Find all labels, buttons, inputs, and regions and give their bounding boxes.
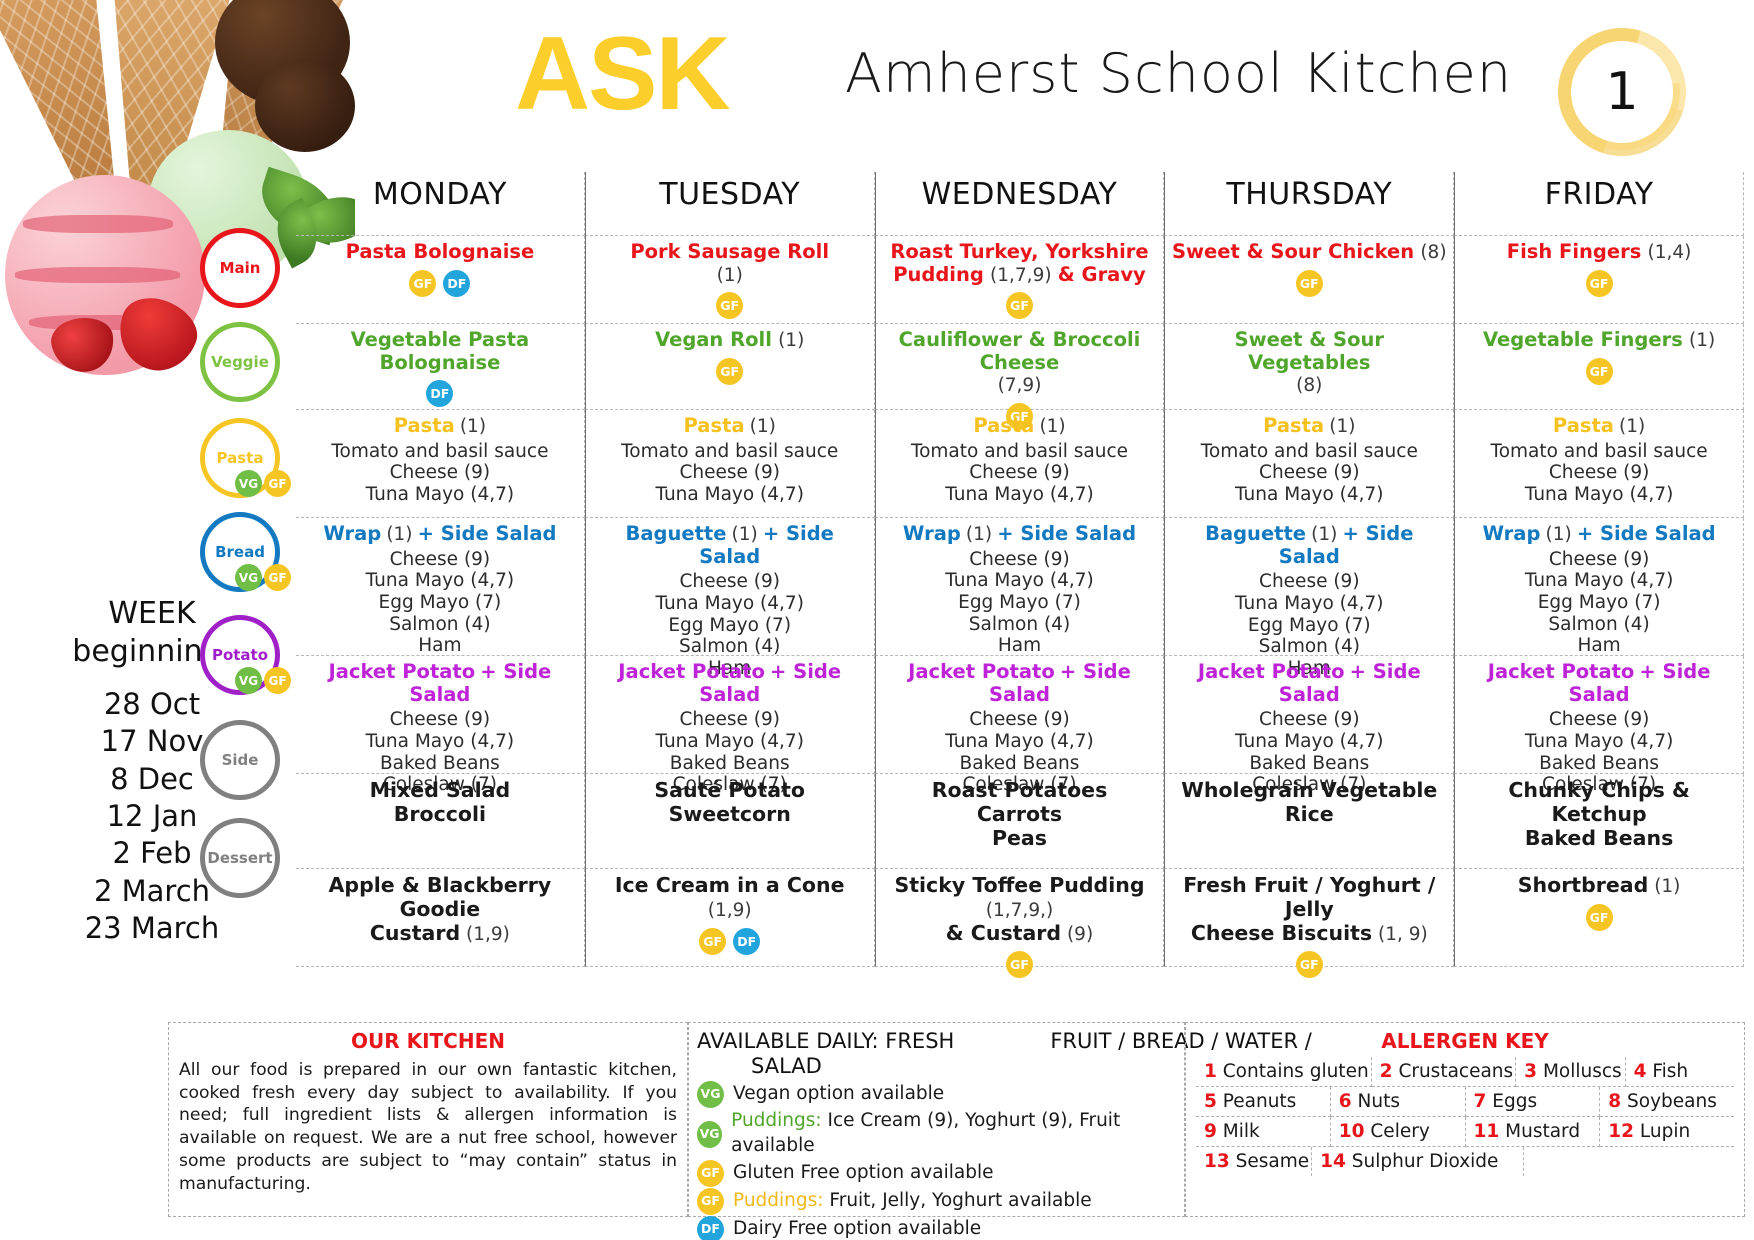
category-label: Potato bbox=[212, 646, 268, 664]
week-number-badge: 1 bbox=[1552, 22, 1692, 162]
dish-option: Cheese (9) bbox=[592, 571, 868, 593]
menu-cell-dessert: Apple & Blackberry GoodieCustard (1,9) bbox=[296, 869, 585, 967]
side-item: Baked Beans bbox=[1461, 827, 1737, 851]
bread-row: Wrap (1) + Side Salad Cheese (9)Tuna May… bbox=[296, 518, 1744, 656]
week-date: 23 March bbox=[12, 910, 292, 947]
dish-option: Tuna Mayo (4,7) bbox=[592, 484, 868, 506]
category-badges: VGGF bbox=[235, 470, 291, 497]
menu-cell-side: Chunky Chips & KetchupBaked Beans bbox=[1454, 774, 1744, 869]
menu-cell-side: Wholegrain Vegetable Rice bbox=[1164, 774, 1454, 869]
dish-option: Tuna Mayo (4,7) bbox=[1461, 484, 1737, 506]
menu-cell-side: Sauté PotatoSweetcorn bbox=[585, 774, 875, 869]
dish-title: Pasta bbox=[394, 414, 455, 437]
badge-gf: GF bbox=[1586, 904, 1613, 931]
allergen-badges: GF bbox=[1171, 951, 1447, 978]
main-row: Pasta BolognaiseGFDFPork Sausage Roll(1)… bbox=[296, 236, 1744, 324]
menu-cell-veggie: Sweet & Sour Vegetables(8) bbox=[1164, 324, 1454, 410]
allergen-cell: 12 Lupin bbox=[1600, 1117, 1734, 1147]
menu-cell-bread: Wrap (1) + Side Salad Cheese (9)Tuna May… bbox=[1454, 518, 1744, 656]
allergen-badges: GF bbox=[1461, 358, 1737, 385]
dessert-line-1: Sticky Toffee Pudding (1,7,9,) bbox=[882, 874, 1158, 922]
dish-title: Baguette bbox=[1205, 522, 1306, 545]
dish-title: Wrap bbox=[903, 522, 961, 545]
badge-vg: VG bbox=[235, 470, 262, 497]
veggie-row: Vegetable Pasta BolognaiseDFVegan Roll (… bbox=[296, 324, 1744, 410]
dish: Vegetable Fingers (1) bbox=[1461, 329, 1737, 352]
dish-option: Tuna Mayo (4,7) bbox=[1461, 731, 1737, 753]
dish-allergens: (1,4) bbox=[1648, 242, 1692, 263]
allergen-name: Lupin bbox=[1640, 1121, 1690, 1142]
dish-allergens: (1) bbox=[1039, 416, 1065, 437]
menu-grid: MONDAY TUESDAY WEDNESDAY THURSDAY FRIDAY… bbox=[296, 172, 1744, 1010]
dish-options: Tomato and basil sauceCheese (9)Tuna May… bbox=[1171, 441, 1447, 506]
category-label: Bread bbox=[215, 543, 265, 561]
allergen-name: Nuts bbox=[1358, 1091, 1400, 1112]
side-item: Chunky Chips & Ketchup bbox=[1461, 779, 1737, 827]
allergen-number: 13 bbox=[1204, 1151, 1230, 1172]
dish-allergens: (7,9) bbox=[998, 375, 1042, 396]
menu-cell-main: Roast Turkey, Yorkshire Pudding (1,7,9) … bbox=[875, 236, 1165, 324]
dish-title: Jacket Potato bbox=[1198, 660, 1345, 683]
dish-option: Cheese (9) bbox=[1461, 709, 1737, 731]
dish-option: Tuna Mayo (4,7) bbox=[882, 570, 1158, 592]
allergen-cell: 4 Fish bbox=[1626, 1057, 1734, 1087]
dish-option: Tuna Mayo (4,7) bbox=[592, 731, 868, 753]
menu-cell-potato: Jacket Potato + Side Salad Cheese (9)Tun… bbox=[585, 656, 875, 774]
dish-option: Tomato and basil sauce bbox=[1461, 441, 1737, 463]
our-kitchen-body: All our food is prepared in our own fant… bbox=[179, 1059, 677, 1195]
dish-option: Tuna Mayo (4,7) bbox=[1171, 731, 1447, 753]
side-item: Wholegrain Vegetable Rice bbox=[1171, 779, 1447, 827]
category-pasta: Pasta VGGF bbox=[200, 418, 280, 498]
side-item: Broccoli bbox=[302, 803, 578, 827]
dish-option: Salmon (4) bbox=[592, 636, 868, 658]
available-daily-heading: AVAILABLE DAILY: FRESHFRUIT / BREAD / WA… bbox=[697, 1029, 1176, 1079]
daily-item-text: Gluten Free option available bbox=[733, 1161, 993, 1186]
allergen-cell-empty bbox=[1524, 1147, 1734, 1176]
dish-title: Cauliflower & Broccoli Cheese bbox=[899, 328, 1141, 374]
daily-item-prefix: Puddings: bbox=[731, 1110, 822, 1131]
badge-df: DF bbox=[443, 270, 470, 297]
dish: Pasta (1) bbox=[1171, 415, 1447, 438]
dish-title: Jacket Potato bbox=[618, 660, 765, 683]
allergen-cell: 3 Molluscs bbox=[1516, 1057, 1625, 1087]
allergen-number: 5 bbox=[1204, 1091, 1217, 1112]
allergen-name: Contains gluten bbox=[1223, 1061, 1369, 1082]
allergen-cell: 11 Mustard bbox=[1466, 1117, 1601, 1147]
category-bread: Bread VGGF bbox=[200, 512, 280, 592]
badge-df: DF bbox=[426, 380, 453, 407]
category-label: Side bbox=[222, 751, 259, 769]
allergen-name: Sulphur Dioxide bbox=[1352, 1151, 1499, 1172]
menu-cell-main: Pork Sausage Roll(1)GF bbox=[585, 236, 875, 324]
daily-item: VG Vegan option available bbox=[697, 1081, 1176, 1108]
menu-cell-side: Mixed SaladBroccoli bbox=[296, 774, 585, 869]
allergen-number: 9 bbox=[1204, 1121, 1217, 1142]
badge-vg: VG bbox=[235, 564, 262, 591]
dish-allergens: (1) bbox=[1311, 524, 1337, 545]
menu-cell-bread: Baguette (1) + Side Salad Cheese (9)Tuna… bbox=[585, 518, 875, 656]
menu-cell-main: Pasta BolognaiseGFDF bbox=[296, 236, 585, 324]
dish-option: Tuna Mayo (4,7) bbox=[302, 484, 578, 506]
dish-option: Tuna Mayo (4,7) bbox=[882, 731, 1158, 753]
dish-option: Cheese (9) bbox=[302, 462, 578, 484]
allergen-row: 1 Contains gluten2 Crustaceans3 Molluscs… bbox=[1196, 1057, 1734, 1087]
allergen-number: 10 bbox=[1339, 1121, 1365, 1142]
badge-gf: GF bbox=[716, 358, 743, 385]
dish-title: Pasta bbox=[973, 414, 1034, 437]
dish-title: Wrap bbox=[1483, 522, 1541, 545]
day-label: TUESDAY bbox=[592, 177, 868, 212]
badge-gf: GF bbox=[699, 928, 726, 955]
allergen-badges: GFDF bbox=[592, 928, 868, 955]
category-potato: Potato VGGF bbox=[200, 615, 280, 695]
daily-item-text: Dairy Free option available bbox=[733, 1217, 981, 1240]
menu-cell-dessert: Shortbread (1)GF bbox=[1454, 869, 1744, 967]
dish-option: Cheese (9) bbox=[1461, 549, 1737, 571]
dish-option: Tomato and basil sauce bbox=[592, 441, 868, 463]
allergen-badges: DF bbox=[302, 380, 578, 407]
allergen-name: Peanuts bbox=[1223, 1091, 1297, 1112]
category-veggie: Veggie bbox=[200, 322, 280, 402]
daily-item-text: Puddings: Ice Cream (9), Yoghurt (9), Fr… bbox=[731, 1109, 1176, 1159]
side-item: Peas bbox=[882, 827, 1158, 851]
dessert-line-1: Apple & Blackberry Goodie bbox=[302, 874, 578, 922]
menu-cell-dessert: Sticky Toffee Pudding (1,7,9,)& Custard … bbox=[875, 869, 1165, 967]
dish-option: Cheese (9) bbox=[302, 709, 578, 731]
menu-cell-dessert: Fresh Fruit / Yoghurt / JellyCheese Bisc… bbox=[1164, 869, 1454, 967]
badge-gf: GF bbox=[1586, 270, 1613, 297]
menu-page: ASK Amherst School Kitchen 1 WEEK beginn… bbox=[0, 0, 1754, 1240]
menu-cell-pasta: Pasta (1) Tomato and basil sauceCheese (… bbox=[296, 410, 585, 518]
allergen-name: Crustaceans bbox=[1398, 1061, 1513, 1082]
week-number: 1 bbox=[1552, 22, 1692, 162]
dish-option: Ham bbox=[1461, 635, 1737, 657]
dish-allergens: (8) bbox=[1420, 242, 1446, 263]
side-item: Sauté Potato bbox=[592, 779, 868, 803]
badge-df: DF bbox=[697, 1216, 724, 1240]
dish-title: Pork Sausage Roll bbox=[630, 240, 829, 263]
allergen-cell: 2 Crustaceans bbox=[1372, 1057, 1517, 1087]
dish-title: Pasta bbox=[684, 414, 745, 437]
dish-option: Egg Mayo (7) bbox=[592, 615, 868, 637]
day-header-wednesday: WEDNESDAY bbox=[875, 172, 1165, 236]
dish: Roast Turkey, Yorkshire Pudding (1,7,9) … bbox=[882, 241, 1158, 286]
dish: Wrap (1) + Side Salad bbox=[1461, 523, 1737, 546]
dish-title: Pasta Bolognaise bbox=[346, 240, 535, 263]
dish-options: Cheese (9)Tuna Mayo (4,7)Egg Mayo (7)Sal… bbox=[882, 549, 1158, 657]
dish-option: Tuna Mayo (4,7) bbox=[1171, 593, 1447, 615]
dish-title: Wrap bbox=[323, 522, 381, 545]
dish-plus: + Side Salad bbox=[1577, 522, 1716, 545]
side-item: Carrots bbox=[882, 803, 1158, 827]
category-label: Pasta bbox=[217, 449, 264, 467]
dish-option: Salmon (4) bbox=[882, 614, 1158, 636]
badge-gf: GF bbox=[697, 1160, 724, 1187]
menu-cell-veggie: Vegetable Fingers (1)GF bbox=[1454, 324, 1744, 410]
dessert-allergens-1: (1) bbox=[1648, 876, 1680, 897]
dish-options: Tomato and basil sauceCheese (9)Tuna May… bbox=[1461, 441, 1737, 506]
available-daily-heading-1: AVAILABLE DAILY: FRESH bbox=[697, 1029, 954, 1053]
dish-option: Baked Beans bbox=[592, 753, 868, 775]
dish-options: Tomato and basil sauceCheese (9)Tuna May… bbox=[302, 441, 578, 506]
dish-option: Ham bbox=[302, 635, 578, 657]
allergen-badges: GF bbox=[592, 292, 868, 319]
badge-df: DF bbox=[733, 928, 760, 955]
allergen-badges: GF bbox=[1461, 904, 1737, 931]
dish-option: Cheese (9) bbox=[1171, 462, 1447, 484]
menu-cell-veggie: Vegan Roll (1)GF bbox=[585, 324, 875, 410]
allergen-key-panel: ALLERGEN KEY 1 Contains gluten2 Crustace… bbox=[1185, 1022, 1745, 1217]
side-row: Mixed SaladBroccoli Sauté PotatoSweetcor… bbox=[296, 774, 1744, 869]
dish-allergens: (1) bbox=[386, 524, 412, 545]
dish-option: Egg Mayo (7) bbox=[302, 592, 578, 614]
dish-option: Cheese (9) bbox=[1171, 571, 1447, 593]
dish-option: Tuna Mayo (4,7) bbox=[302, 570, 578, 592]
badge-gf: GF bbox=[1296, 951, 1323, 978]
side-item: Sweetcorn bbox=[592, 803, 868, 827]
dish-option: Salmon (4) bbox=[302, 614, 578, 636]
dish: Pasta (1) bbox=[1461, 415, 1737, 438]
dessert-allergens-2: (9) bbox=[1061, 924, 1093, 945]
allergen-name: Molluscs bbox=[1543, 1061, 1622, 1082]
day-header-friday: FRIDAY bbox=[1454, 172, 1744, 236]
dish-option: Tomato and basil sauce bbox=[302, 441, 578, 463]
allergen-badges: GF bbox=[1461, 270, 1737, 297]
dish: Pork Sausage Roll(1) bbox=[592, 241, 868, 286]
dish: Jacket Potato + Side Salad bbox=[302, 661, 578, 706]
available-daily-panel: AVAILABLE DAILY: FRESHFRUIT / BREAD / WA… bbox=[688, 1022, 1185, 1217]
allergen-cell: 8 Soybeans bbox=[1600, 1087, 1734, 1117]
allergen-number: 1 bbox=[1204, 1061, 1217, 1082]
category-label: Veggie bbox=[211, 353, 269, 371]
menu-cell-main: Sweet & Sour Chicken (8)GF bbox=[1164, 236, 1454, 324]
available-daily-list: VG Vegan option available VG Puddings: I… bbox=[697, 1081, 1176, 1240]
dessert-line-1: Shortbread (1) bbox=[1461, 874, 1737, 898]
menu-cell-pasta: Pasta (1) Tomato and basil sauceCheese (… bbox=[585, 410, 875, 518]
dish-allergens: (8) bbox=[1296, 375, 1322, 396]
dish-option: Tuna Mayo (4,7) bbox=[882, 484, 1158, 506]
dish-option: Egg Mayo (7) bbox=[1171, 615, 1447, 637]
dish-option: Baked Beans bbox=[1461, 753, 1737, 775]
daily-item: GF Puddings: Fruit, Jelly, Yoghurt avail… bbox=[697, 1188, 1176, 1215]
dish-allergens: (1) bbox=[1689, 330, 1715, 351]
menu-cell-bread: Baguette (1) + Side Salad Cheese (9)Tuna… bbox=[1164, 518, 1454, 656]
dish-option: Salmon (4) bbox=[1461, 614, 1737, 636]
allergen-number: 12 bbox=[1608, 1121, 1634, 1142]
daily-item: VG Puddings: Ice Cream (9), Yoghurt (9),… bbox=[697, 1109, 1176, 1159]
dish-option: Cheese (9) bbox=[882, 462, 1158, 484]
dish: Jacket Potato + Side Salad bbox=[882, 661, 1158, 706]
dish-title: Jacket Potato bbox=[1488, 660, 1635, 683]
menu-cell-potato: Jacket Potato + Side Salad Cheese (9)Tun… bbox=[1164, 656, 1454, 774]
badge-gf: GF bbox=[264, 667, 291, 694]
dish-plus: + Side Salad bbox=[997, 522, 1136, 545]
potato-row: Jacket Potato + Side Salad Cheese (9)Tun… bbox=[296, 656, 1744, 774]
allergen-row: 9 Milk10 Celery11 Mustard12 Lupin bbox=[1196, 1117, 1734, 1147]
allergen-name: Milk bbox=[1223, 1121, 1260, 1142]
page-title: Amherst School Kitchen bbox=[845, 42, 1512, 105]
dish-option: Tuna Mayo (4,7) bbox=[592, 593, 868, 615]
dish-title: Vegan Roll bbox=[655, 328, 772, 351]
dish-option: Baked Beans bbox=[1171, 753, 1447, 775]
allergen-cell: 13 Sesame bbox=[1196, 1147, 1312, 1176]
dish: Sweet & Sour Vegetables(8) bbox=[1171, 329, 1447, 397]
ask-logo: ASK bbox=[515, 22, 729, 126]
dish-title: Vegetable Fingers bbox=[1483, 328, 1683, 351]
dessert-line-2: Custard (1,9) bbox=[302, 922, 578, 946]
dessert-allergens-2: (1,9) bbox=[460, 924, 510, 945]
allergen-cell: 1 Contains gluten bbox=[1196, 1057, 1372, 1087]
dish: Pasta (1) bbox=[882, 415, 1158, 438]
dish: Vegetable Pasta Bolognaise bbox=[302, 329, 578, 374]
dessert-allergens-1: (1,7,9,) bbox=[986, 900, 1053, 921]
dish-allergens: (1) bbox=[966, 524, 992, 545]
side-item: Roast Potatoes bbox=[882, 779, 1158, 803]
dessert-row: Apple & Blackberry GoodieCustard (1,9)Ic… bbox=[296, 869, 1744, 967]
dish-option: Cheese (9) bbox=[1461, 462, 1737, 484]
allergen-name: Sesame bbox=[1236, 1151, 1310, 1172]
day-label: THURSDAY bbox=[1171, 177, 1447, 212]
allergen-number: 4 bbox=[1634, 1061, 1647, 1082]
allergen-name: Celery bbox=[1370, 1121, 1429, 1142]
dish-option: Tuna Mayo (4,7) bbox=[302, 731, 578, 753]
dish-title: Sweet & Sour Chicken bbox=[1172, 240, 1414, 263]
menu-cell-potato: Jacket Potato + Side Salad Cheese (9)Tun… bbox=[875, 656, 1165, 774]
dish-options: Tomato and basil sauceCheese (9)Tuna May… bbox=[882, 441, 1158, 506]
dish-option: Cheese (9) bbox=[592, 462, 868, 484]
menu-cell-main: Fish Fingers (1,4)GF bbox=[1454, 236, 1744, 324]
allergen-badges: GFDF bbox=[302, 270, 578, 297]
dish: Baguette (1) + Side Salad bbox=[592, 523, 868, 568]
badge-gf: GF bbox=[1006, 292, 1033, 319]
day-label: FRIDAY bbox=[1461, 177, 1737, 212]
badge-gf: GF bbox=[1586, 358, 1613, 385]
dish-title: Jacket Potato bbox=[908, 660, 1055, 683]
allergen-cell: 14 Sulphur Dioxide bbox=[1312, 1147, 1523, 1176]
badge-gf: GF bbox=[264, 564, 291, 591]
category-label: Main bbox=[220, 259, 261, 277]
chocolate-scoop-icon bbox=[255, 60, 355, 152]
dish-suffix: & Gravy bbox=[1058, 263, 1146, 286]
dish-options: Cheese (9)Tuna Mayo (4,7)Egg Mayo (7)Sal… bbox=[1461, 549, 1737, 657]
daily-item: GF Gluten Free option available bbox=[697, 1160, 1176, 1187]
dish-allergens: (1) bbox=[1329, 416, 1355, 437]
pasta-row: Pasta (1) Tomato and basil sauceCheese (… bbox=[296, 410, 1744, 518]
dish-option: Cheese (9) bbox=[882, 709, 1158, 731]
badge-vg: VG bbox=[235, 667, 262, 694]
daily-item: DF Dairy Free option available bbox=[697, 1216, 1176, 1240]
badge-gf: GF bbox=[716, 292, 743, 319]
badge-vg: VG bbox=[697, 1121, 722, 1148]
menu-cell-dessert: Ice Cream in a Cone (1,9)GFDF bbox=[585, 869, 875, 967]
dish-option: Tuna Mayo (4,7) bbox=[1171, 484, 1447, 506]
menu-cell-veggie: Cauliflower & Broccoli Cheese(7,9)GF bbox=[875, 324, 1165, 410]
day-header-row: MONDAY TUESDAY WEDNESDAY THURSDAY FRIDAY bbox=[296, 172, 1744, 236]
dessert-allergens-2: (1, 9) bbox=[1372, 924, 1428, 945]
day-header-thursday: THURSDAY bbox=[1164, 172, 1454, 236]
category-side: Side bbox=[200, 720, 280, 800]
dish-title: Pasta bbox=[1553, 414, 1614, 437]
dessert-line-1: Fresh Fruit / Yoghurt / Jelly bbox=[1171, 874, 1447, 922]
dish-title: Baguette bbox=[625, 522, 726, 545]
dish-option: Ham bbox=[882, 635, 1158, 657]
daily-item-text: Puddings: Fruit, Jelly, Yoghurt availabl… bbox=[733, 1189, 1092, 1214]
dish-allergens: (1) bbox=[750, 416, 776, 437]
allergen-name: Soybeans bbox=[1627, 1091, 1717, 1112]
category-badges: VGGF bbox=[235, 667, 291, 694]
menu-cell-side: Roast PotatoesCarrotsPeas bbox=[875, 774, 1165, 869]
menu-cell-veggie: Vegetable Pasta BolognaiseDF bbox=[296, 324, 585, 410]
menu-cell-potato: Jacket Potato + Side Salad Cheese (9)Tun… bbox=[1454, 656, 1744, 774]
category-badges: VGGF bbox=[235, 564, 291, 591]
dish-allergens: (1) bbox=[732, 524, 758, 545]
dish: Vegan Roll (1) bbox=[592, 329, 868, 352]
badge-gf: GF bbox=[1296, 270, 1323, 297]
allergen-badges: GF bbox=[1171, 270, 1447, 297]
dish-allergens: (1) bbox=[1546, 524, 1572, 545]
dish-option: Egg Mayo (7) bbox=[882, 592, 1158, 614]
allergen-cell: 9 Milk bbox=[1196, 1117, 1331, 1147]
dish-option: Cheese (9) bbox=[302, 549, 578, 571]
dish-allergens: (1) bbox=[460, 416, 486, 437]
allergen-number: 11 bbox=[1474, 1121, 1500, 1142]
dish-option: Baked Beans bbox=[302, 753, 578, 775]
available-daily-heading-3: SALAD bbox=[751, 1054, 1176, 1079]
allergen-badges: GF bbox=[882, 951, 1158, 978]
allergen-name: Fish bbox=[1652, 1061, 1688, 1082]
category-dessert: Dessert bbox=[200, 818, 280, 898]
dish: Cauliflower & Broccoli Cheese(7,9) bbox=[882, 329, 1158, 397]
day-label: WEDNESDAY bbox=[882, 177, 1158, 212]
allergen-row: 5 Peanuts6 Nuts7 Eggs8 Soybeans bbox=[1196, 1087, 1734, 1117]
menu-cell-pasta: Pasta (1) Tomato and basil sauceCheese (… bbox=[1164, 410, 1454, 518]
menu-cell-pasta: Pasta (1) Tomato and basil sauceCheese (… bbox=[1454, 410, 1744, 518]
dish: Jacket Potato + Side Salad bbox=[592, 661, 868, 706]
allergen-badges: GF bbox=[592, 358, 868, 385]
dish-option: Salmon (4) bbox=[1171, 636, 1447, 658]
dish-option: Cheese (9) bbox=[592, 709, 868, 731]
menu-cell-pasta: Pasta (1) Tomato and basil sauceCheese (… bbox=[875, 410, 1165, 518]
menu-cell-bread: Wrap (1) + Side Salad Cheese (9)Tuna May… bbox=[875, 518, 1165, 656]
side-item: Mixed Salad bbox=[302, 779, 578, 803]
dish: Pasta (1) bbox=[592, 415, 868, 438]
day-label: MONDAY bbox=[302, 177, 578, 212]
footer: OUR KITCHEN All our food is prepared in … bbox=[0, 1012, 1754, 1240]
day-header-tuesday: TUESDAY bbox=[585, 172, 875, 236]
badge-gf: GF bbox=[1006, 951, 1033, 978]
allergen-number: 14 bbox=[1320, 1151, 1346, 1172]
allergen-row: 13 Sesame14 Sulphur Dioxide bbox=[1196, 1147, 1734, 1176]
allergen-badges: GF bbox=[882, 292, 1158, 319]
badge-gf: GF bbox=[697, 1188, 724, 1215]
allergen-cell: 6 Nuts bbox=[1331, 1087, 1466, 1117]
dish-title: Pasta bbox=[1263, 414, 1324, 437]
category-label: Dessert bbox=[207, 849, 272, 867]
badge-gf: GF bbox=[409, 270, 436, 297]
dish-title: Vegetable Pasta Bolognaise bbox=[351, 328, 530, 374]
dish-options: Tomato and basil sauceCheese (9)Tuna May… bbox=[592, 441, 868, 506]
category-main: Main bbox=[200, 228, 280, 308]
badge-vg: VG bbox=[697, 1081, 724, 1108]
dish-allergens: (1) bbox=[778, 330, 804, 351]
allergen-number: 2 bbox=[1380, 1061, 1393, 1082]
dish-allergens: (1) bbox=[717, 265, 743, 286]
menu-cell-potato: Jacket Potato + Side Salad Cheese (9)Tun… bbox=[296, 656, 585, 774]
dish-allergens: (1) bbox=[1619, 416, 1645, 437]
dish-allergens: (1,7,9) bbox=[990, 265, 1052, 286]
dessert-line-1: Ice Cream in a Cone (1,9) bbox=[592, 874, 868, 922]
